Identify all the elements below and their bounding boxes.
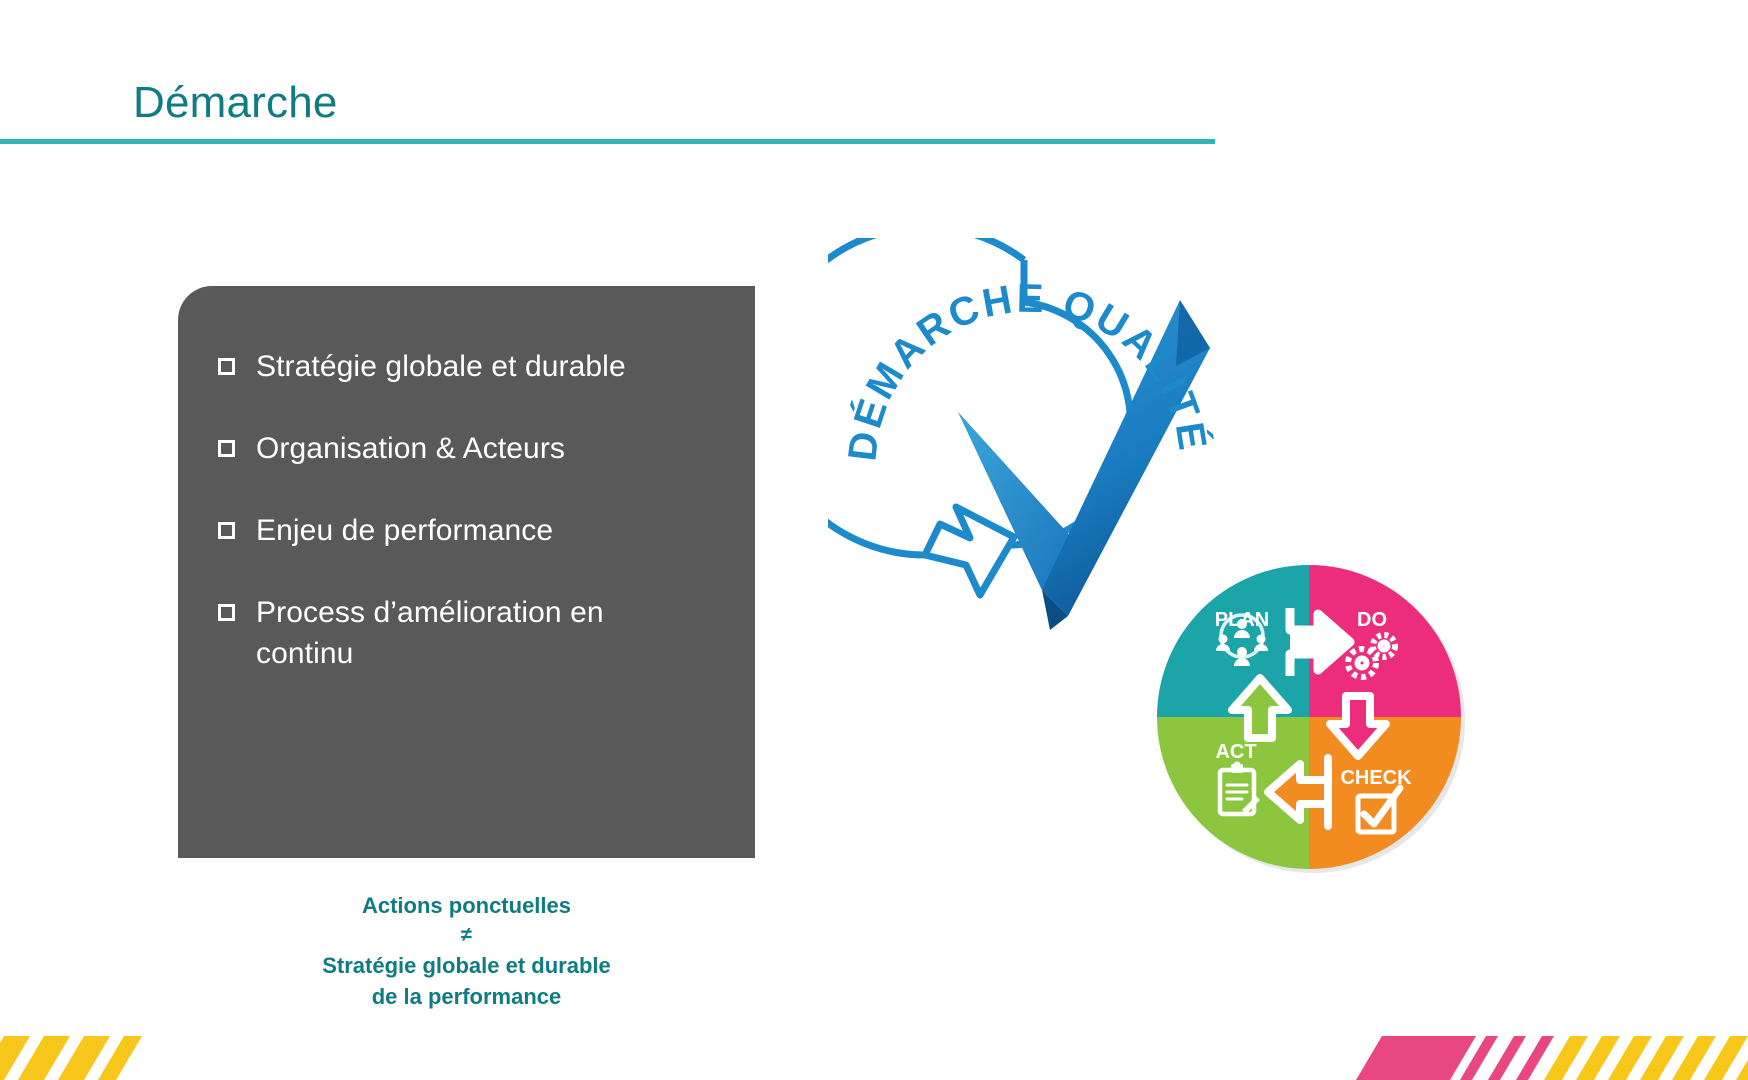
pdca-label-do: DO <box>1357 609 1387 631</box>
hollow-square-icon <box>218 358 235 375</box>
decor-stripes-right <box>1348 1030 1748 1080</box>
caption-line-3: Stratégie globale et durable <box>178 950 755 981</box>
bullet-panel: Stratégie globale et durable Organisatio… <box>178 286 755 863</box>
bullet-panel-body: Stratégie globale et durable Organisatio… <box>178 286 755 858</box>
slide-canvas: Démarche Stratégie globale et durable Or… <box>0 0 1748 1080</box>
list-item-label: Organisation & Acteurs <box>256 428 565 469</box>
arrow-head-icon <box>925 507 1014 595</box>
caption-line-4: de la performance <box>178 981 755 1012</box>
decor-stripes-left <box>0 1030 160 1080</box>
list-item: Process d’amélioration en continu <box>218 592 648 674</box>
list-item-label: Stratégie globale et durable <box>256 346 626 387</box>
title-underline <box>0 139 1215 144</box>
pdca-label-act: ACT <box>1215 741 1256 763</box>
list-item-label: Process d’amélioration en continu <box>256 592 648 674</box>
caption-line-1: Actions ponctuelles <box>178 890 755 921</box>
list-item: Enjeu de performance <box>218 510 721 551</box>
panel-caption: Actions ponctuelles ≠ Stratégie globale … <box>178 890 755 1012</box>
pdca-quadrant-plan <box>1150 558 1309 717</box>
pdca-wheel: PLAN DO CHECK <box>1150 558 1468 876</box>
hollow-square-icon <box>218 440 235 457</box>
hollow-square-icon <box>218 604 235 621</box>
stripes-left-icon <box>0 1030 160 1080</box>
page-title: Démarche <box>133 78 338 128</box>
list-item-label: Enjeu de performance <box>256 510 553 551</box>
hollow-square-icon <box>218 522 235 539</box>
stripes-right-icon <box>1348 1030 1748 1080</box>
caption-not-equal-symbol: ≠ <box>178 921 755 949</box>
list-item: Organisation & Acteurs <box>218 428 721 469</box>
list-item: Stratégie globale et durable <box>218 346 721 387</box>
pdca-wheel-icon: PLAN DO CHECK <box>1150 558 1468 876</box>
